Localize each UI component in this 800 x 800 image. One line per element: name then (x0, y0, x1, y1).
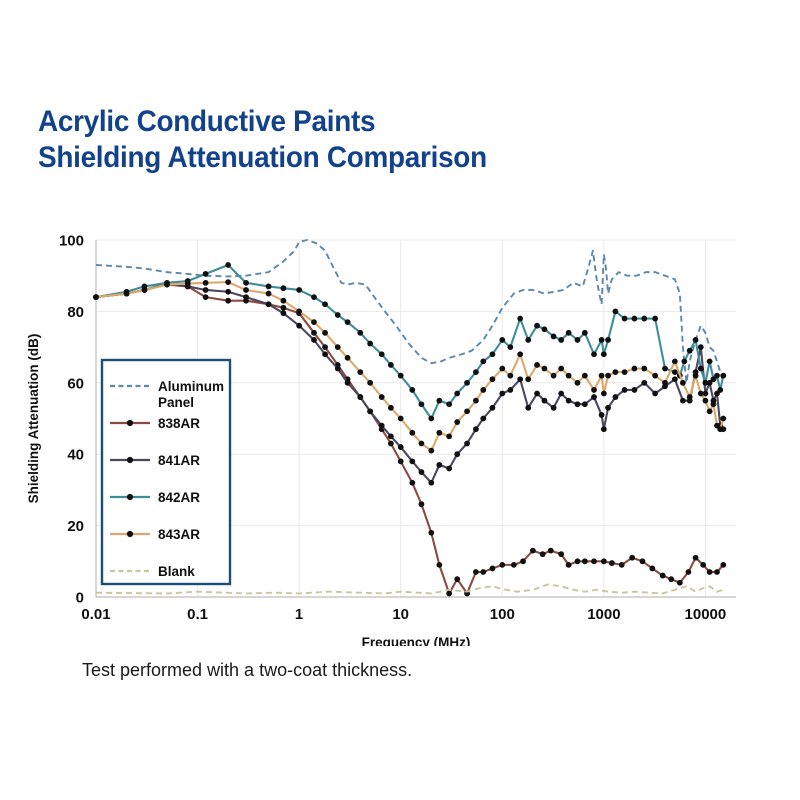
x-axis-label: Frequency (MHz) (362, 635, 471, 646)
x-tick-label: 10 (392, 606, 409, 623)
x-tick-label: 10000 (685, 606, 727, 623)
legend-label: 838AR (158, 416, 200, 431)
legend-marker (127, 457, 133, 463)
legend-label: Blank (158, 564, 195, 579)
y-tick-label: 80 (67, 304, 84, 321)
y-tick-label: 40 (67, 447, 84, 464)
title-line-1: Acrylic Conductive Paints (38, 104, 689, 140)
y-tick-label: 0 (76, 590, 84, 607)
chart-svg: 0.010.1110100100010000020406080100Freque… (0, 216, 800, 646)
chart-legend: AluminumPanel838AR841AR842AR843ARBlank (102, 360, 230, 584)
legend-label: Aluminum (158, 379, 224, 394)
x-tick-label: 0.01 (81, 606, 110, 623)
poster-page: Acrylic Conductive Paints Shielding Atte… (0, 0, 800, 800)
x-tick-label: 0.1 (187, 606, 208, 623)
y-tick-label: 60 (67, 375, 84, 392)
title-line-2: Shielding Attenuation Comparison (38, 140, 689, 176)
y-axis-label: Shielding Attenuation (dB) (26, 334, 41, 504)
y-tick-label: 20 (67, 518, 84, 535)
legend-marker (127, 531, 133, 537)
x-tick-label: 1 (295, 606, 303, 623)
series-blank (96, 585, 723, 594)
legend-label: Panel (158, 395, 194, 410)
y-tick-label: 100 (59, 233, 84, 250)
legend-marker (127, 420, 133, 426)
legend-label: 843AR (158, 527, 200, 542)
legend-marker (127, 494, 133, 500)
x-tick-label: 1000 (587, 606, 620, 623)
x-tick-label: 100 (490, 606, 515, 623)
legend-label: 841AR (158, 453, 200, 468)
chart-caption: Test performed with a two-coat thickness… (82, 660, 412, 681)
page-title: Acrylic Conductive Paints Shielding Atte… (38, 104, 738, 176)
shielding-attenuation-chart: 0.010.1110100100010000020406080100Freque… (0, 216, 800, 646)
legend-label: 842AR (158, 490, 200, 505)
